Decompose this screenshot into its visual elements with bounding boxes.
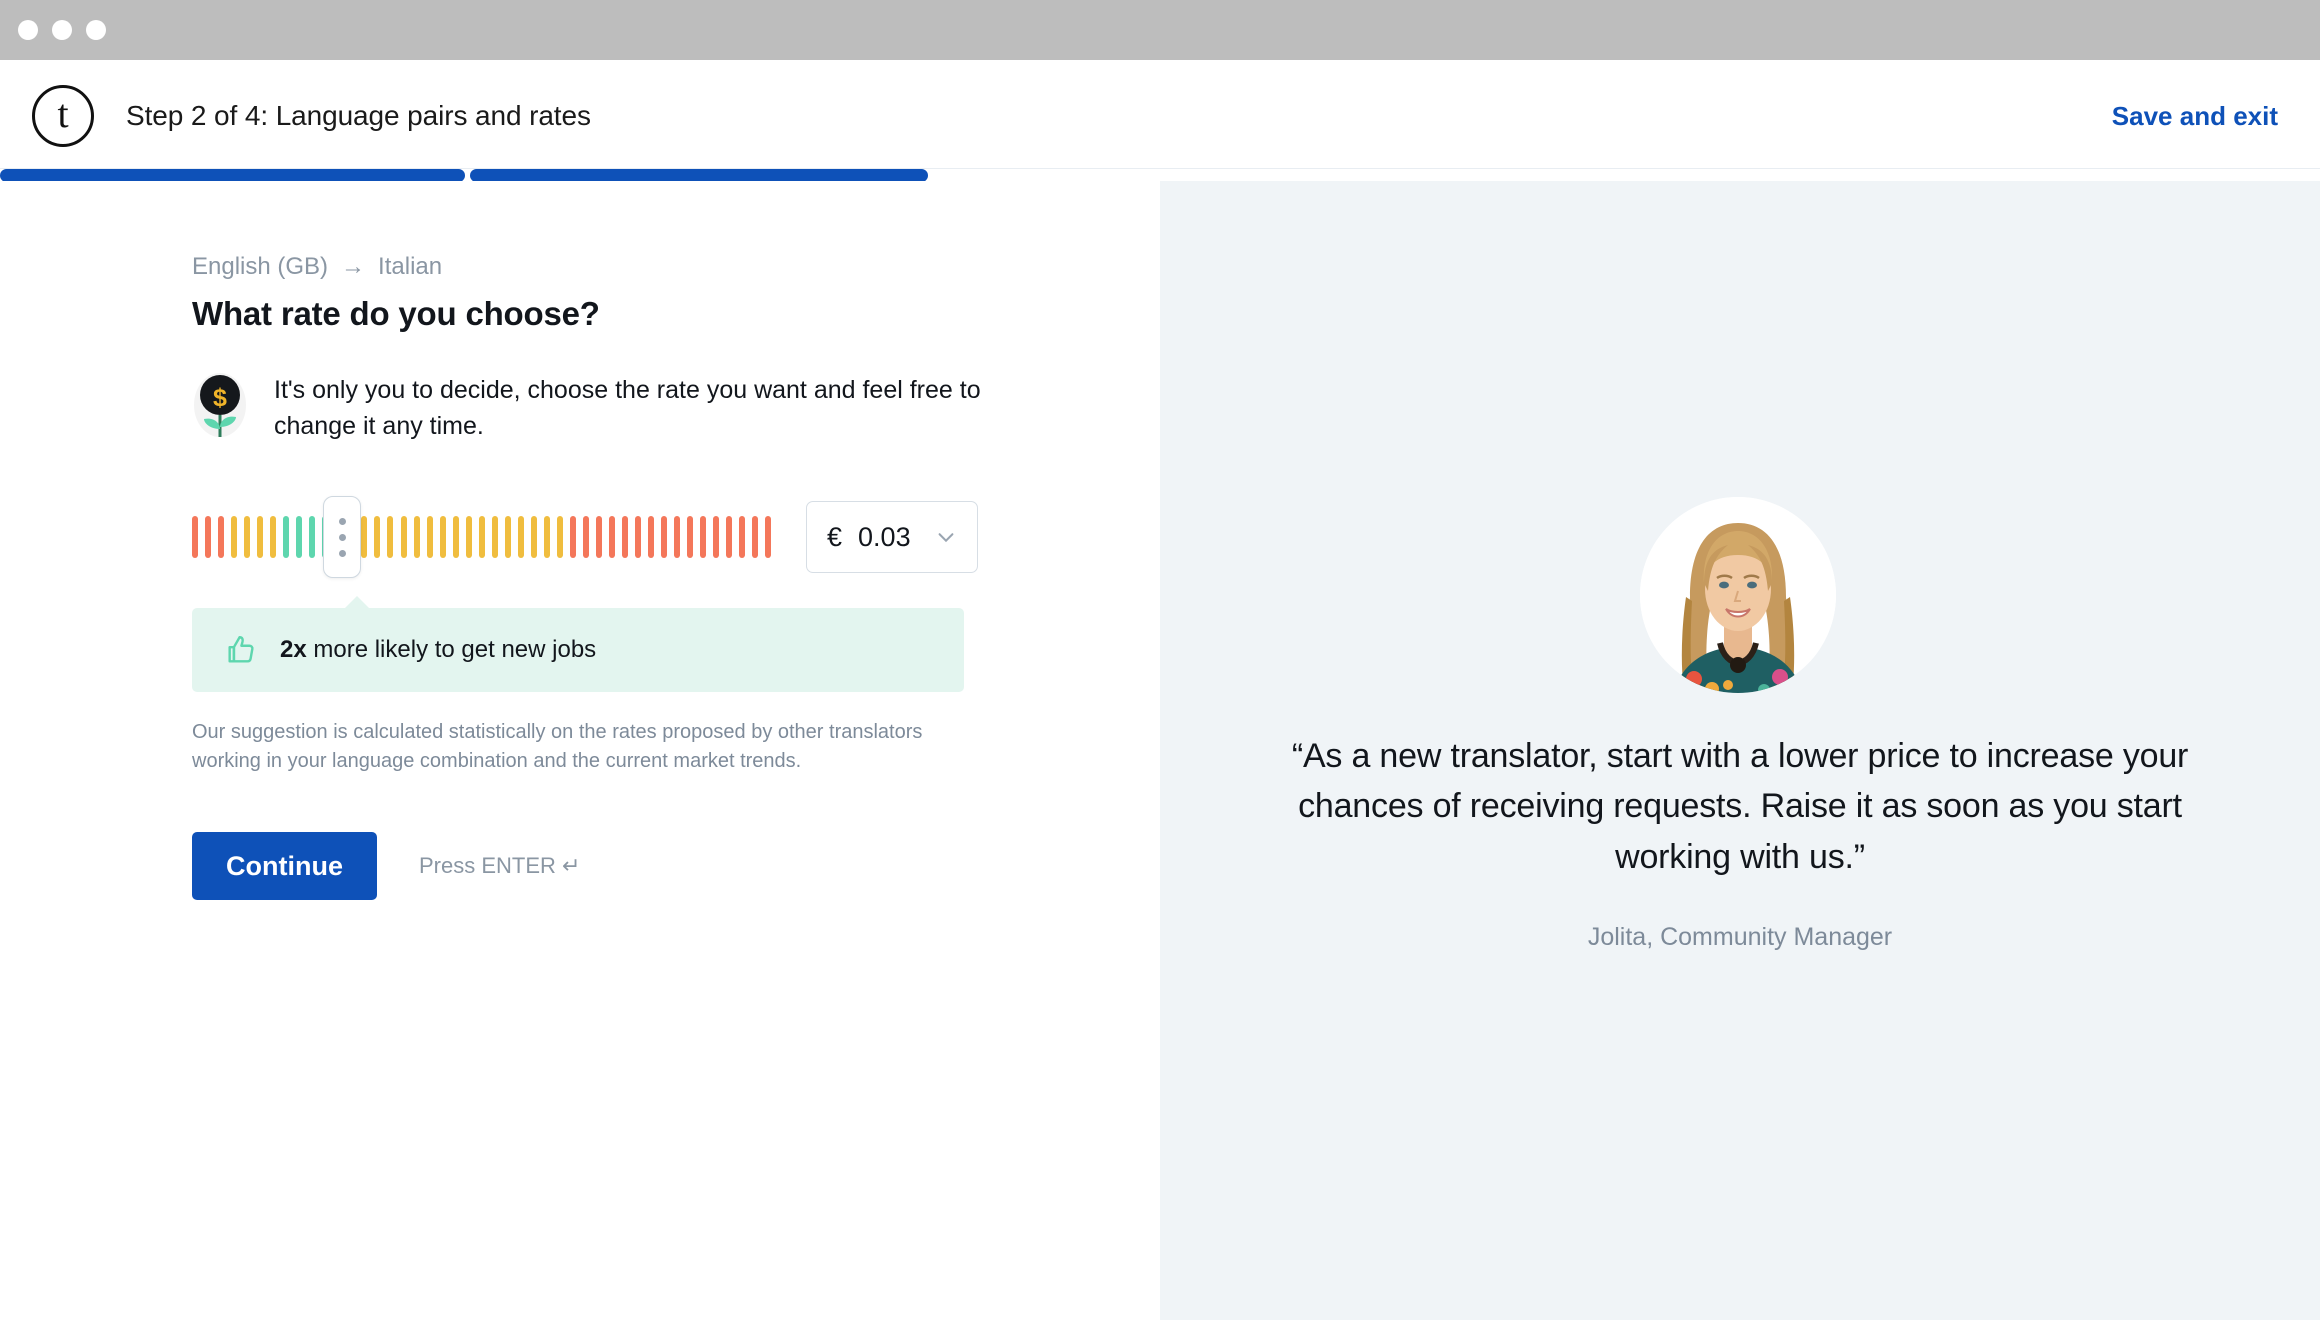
tip-text: 2x more likely to get new jobs — [280, 636, 596, 664]
testimonial-quote: “As a new translator, start with a lower… — [1265, 731, 2215, 882]
continue-button[interactable]: Continue — [192, 832, 377, 900]
slider-tick — [492, 516, 498, 558]
tip-rest: more likely to get new jobs — [307, 636, 596, 663]
page-title: What rate do you choose? — [192, 295, 982, 333]
slider-tick — [244, 516, 250, 558]
slider-tick — [622, 516, 628, 558]
description-text: It's only you to decide, choose the rate… — [274, 369, 982, 444]
slider-tick — [374, 516, 380, 558]
right-panel: “As a new translator, start with a lower… — [1160, 181, 2320, 1320]
slider-tick — [309, 516, 315, 558]
slider-tick — [401, 516, 407, 558]
rate-form: English (GB) → Italian What rate do you … — [192, 253, 982, 900]
tip-banner: 2x more likely to get new jobs — [192, 608, 964, 692]
slider-tick — [440, 516, 446, 558]
description-row: $ It's only you to decide, choose the ra… — [192, 369, 982, 444]
slider-tick — [387, 516, 393, 558]
slider-tick — [687, 516, 693, 558]
slider-tick — [596, 516, 602, 558]
slider-tick — [752, 516, 758, 558]
slider-tick — [518, 516, 524, 558]
slider-tick — [205, 516, 211, 558]
avatar — [1640, 497, 1836, 693]
slider-tick — [296, 516, 302, 558]
slider-tick — [231, 516, 237, 558]
slider-tick — [505, 516, 511, 558]
slider-tick — [713, 516, 719, 558]
slider-tick — [531, 516, 537, 558]
money-plant-icon: $ — [192, 369, 248, 439]
target-language: Italian — [378, 253, 442, 281]
arrow-right-icon: → — [341, 253, 365, 281]
form-actions: Continue Press ENTER ↵ — [192, 832, 982, 900]
chevron-down-icon[interactable] — [935, 526, 957, 548]
handle-grip-dot — [339, 550, 346, 557]
slider-tick — [635, 516, 641, 558]
slider-tick — [466, 516, 472, 558]
rate-slider[interactable] — [192, 496, 772, 578]
testimonial-attribution: Jolita, Community Manager — [1265, 923, 2215, 952]
slider-tick — [739, 516, 745, 558]
slider-tick — [674, 516, 680, 558]
avatar-photo — [1640, 497, 1836, 693]
slider-tick — [218, 516, 224, 558]
slider-tick — [427, 516, 433, 558]
slider-tick — [544, 516, 550, 558]
svg-text:$: $ — [213, 384, 227, 412]
slider-tick — [270, 516, 276, 558]
source-language: English (GB) — [192, 253, 328, 281]
currency-symbol: € — [827, 522, 842, 553]
slider-tick — [283, 516, 289, 558]
press-enter-hint: Press ENTER ↵ — [419, 853, 580, 879]
slider-tick — [661, 516, 667, 558]
slider-tick — [583, 516, 589, 558]
slider-tick — [192, 516, 198, 558]
rate-select[interactable]: € 0.03 — [806, 501, 978, 573]
slider-tick — [570, 516, 576, 558]
slider-tick — [414, 516, 420, 558]
language-pair-breadcrumb: English (GB) → Italian — [192, 253, 982, 281]
slider-tick — [361, 516, 367, 558]
thumbs-up-icon — [224, 633, 258, 667]
slider-tick — [557, 516, 563, 558]
slider-tick — [453, 516, 459, 558]
suggestion-fineprint: Our suggestion is calculated statistical… — [192, 718, 972, 776]
save-and-exit-link[interactable]: Save and exit — [2112, 101, 2278, 132]
slider-tick — [726, 516, 732, 558]
slider-handle[interactable] — [323, 496, 361, 578]
tip-arrow — [344, 596, 370, 609]
app-header: t Step 2 of 4: Language pairs and rates … — [0, 60, 2320, 172]
close-dot[interactable] — [18, 20, 38, 40]
page-step-title: Step 2 of 4: Language pairs and rates — [126, 100, 591, 132]
tip-banner-wrapper: 2x more likely to get new jobs — [192, 608, 964, 692]
slider-tick — [700, 516, 706, 558]
slider-tick — [765, 516, 771, 558]
handle-grip-dot — [339, 518, 346, 525]
rate-slider-row: € 0.03 — [192, 496, 982, 578]
slider-tick — [609, 516, 615, 558]
maximize-dot[interactable] — [86, 20, 106, 40]
translated-logo-icon: t — [32, 85, 94, 147]
progress-bar — [0, 168, 2320, 181]
browser-chrome — [0, 0, 2320, 60]
slider-tick — [257, 516, 263, 558]
rate-value: 0.03 — [858, 522, 911, 553]
slider-tick — [648, 516, 654, 558]
handle-grip-dot — [339, 534, 346, 541]
tip-highlight: 2x — [280, 636, 307, 663]
logo-glyph: t — [57, 94, 68, 134]
slider-tick-strip — [192, 516, 772, 558]
slider-tick — [479, 516, 485, 558]
minimize-dot[interactable] — [52, 20, 72, 40]
